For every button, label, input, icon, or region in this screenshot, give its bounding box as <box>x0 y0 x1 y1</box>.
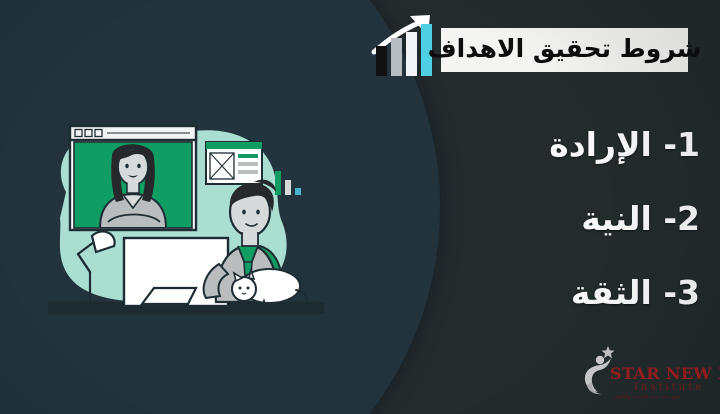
list-item: 3- الثقة <box>400 276 700 309</box>
list-item: 2- النية <box>400 202 700 235</box>
small-bar-chart-icon <box>275 171 301 195</box>
brand-arabic-tagline: معهد نجم جديد للتدريب والتأهيل <box>614 394 680 400</box>
brand-name: STAR NEW RISE <box>610 364 720 383</box>
video-call-window <box>70 126 196 230</box>
title-row: شروط تحقيق الاهداف <box>360 10 700 80</box>
title-banner: شروط تحقيق الاهداف <box>441 28 688 72</box>
conditions-list: 1- الإرادة 2- النية 3- الثقة <box>400 128 700 309</box>
video-call-remote-work-illustration <box>38 96 338 346</box>
document-card-icon <box>206 142 262 184</box>
title-banner-text: شروط تحقيق الاهداف <box>428 36 702 64</box>
list-item: 1- الإرادة <box>400 128 700 161</box>
brand-sub: Institute <box>634 382 704 393</box>
slide-canvas: شروط تحقيق الاهداف 1- الإرادة 2- النية 3… <box>0 0 720 414</box>
brand-logo: STAR NEW RISE Institute معهد نجم جديد لل… <box>576 342 708 406</box>
